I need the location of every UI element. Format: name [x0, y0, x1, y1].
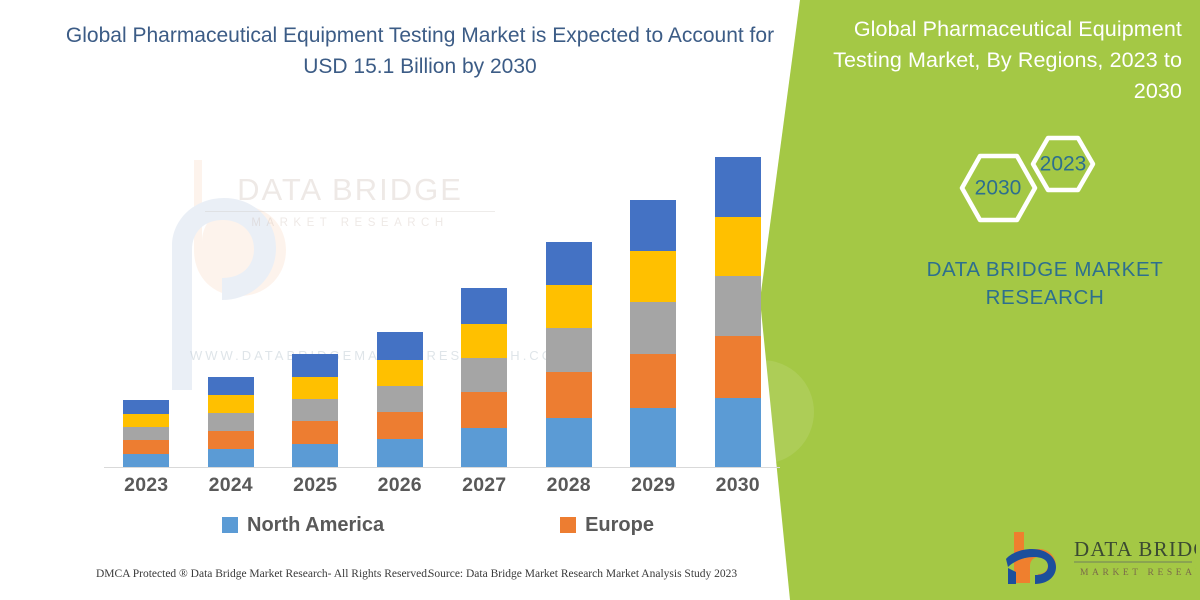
bar-segment[interactable] [630, 200, 676, 251]
bar-segment[interactable] [546, 372, 592, 418]
bar-segment[interactable] [461, 392, 507, 428]
bar-segment[interactable] [546, 285, 592, 328]
panel-brand-line2: RESEARCH [900, 284, 1190, 312]
bar-segment[interactable] [208, 377, 254, 395]
bar-slot [527, 122, 612, 468]
x-axis-tick: 2030 [696, 474, 781, 502]
bar-segment[interactable] [630, 354, 676, 408]
page-title: Global Pharmaceutical Equipment Testing … [60, 20, 780, 82]
bar-slot [104, 122, 189, 468]
bar-segment[interactable] [292, 377, 338, 399]
bar-segment[interactable] [715, 217, 761, 276]
hexagon-2023-shape: 2023 [1033, 138, 1093, 190]
bar-segment[interactable] [123, 440, 169, 454]
infographic-canvas: Global Pharmaceutical Equipment Testing … [0, 0, 1200, 600]
panel-title: Global Pharmaceutical Equipment Testing … [830, 14, 1182, 107]
bar-segment[interactable] [208, 431, 254, 449]
legend-item[interactable]: Europe [560, 514, 654, 537]
bar-segment[interactable] [123, 400, 169, 414]
brand-logo: DATA BRIDGE MARKET RESEARCH [1000, 528, 1196, 586]
bar-segment[interactable] [123, 454, 169, 468]
bar-slot [442, 122, 527, 468]
x-axis-tick: 2029 [611, 474, 696, 502]
bar-segment[interactable] [292, 444, 338, 468]
footer-source: Source: Data Bridge Market Research Mark… [428, 568, 737, 580]
bar-segment[interactable] [377, 386, 423, 412]
bar-segment[interactable] [715, 336, 761, 398]
stacked-bar-chart [104, 120, 780, 468]
bar-segment[interactable] [377, 360, 423, 386]
stacked-bar[interactable] [377, 332, 423, 468]
legend-label: North America [247, 514, 384, 537]
x-axis-tick: 2028 [527, 474, 612, 502]
chart-x-axis: 20232024202520262027202820292030 [104, 474, 780, 502]
stacked-bar[interactable] [715, 157, 761, 468]
bar-slot [358, 122, 443, 468]
x-axis-tick: 2024 [189, 474, 274, 502]
bar-segment[interactable] [377, 439, 423, 468]
chart-legend: North AmericaEurope [104, 508, 780, 542]
legend-label: Europe [585, 514, 654, 537]
bar-segment[interactable] [546, 418, 592, 468]
bar-slot [189, 122, 274, 468]
bar-segment[interactable] [292, 399, 338, 421]
legend-swatch-icon [560, 517, 576, 533]
footer-dmca: DMCA Protected ® Data Bridge Market Rese… [96, 568, 430, 580]
x-axis-tick: 2025 [273, 474, 358, 502]
bar-segment[interactable] [630, 251, 676, 302]
bar-segment[interactable] [546, 242, 592, 285]
bar-segment[interactable] [461, 324, 507, 358]
legend-swatch-icon [222, 517, 238, 533]
x-axis-tick: 2027 [442, 474, 527, 502]
stacked-bar[interactable] [630, 200, 676, 468]
stacked-bar[interactable] [461, 288, 507, 468]
legend-item[interactable]: North America [222, 514, 384, 537]
bar-segment[interactable] [208, 395, 254, 413]
bar-segment[interactable] [377, 332, 423, 360]
logo-mark-icon [1006, 532, 1056, 584]
hexagon-2023-label: 2023 [1040, 153, 1087, 176]
bar-segment[interactable] [208, 449, 254, 468]
bar-segment[interactable] [715, 398, 761, 468]
stacked-bar[interactable] [208, 377, 254, 468]
x-axis-tick: 2026 [358, 474, 443, 502]
bar-slot [696, 122, 781, 468]
stacked-bar[interactable] [292, 354, 338, 468]
bar-segment[interactable] [292, 354, 338, 377]
stacked-bar[interactable] [123, 400, 169, 468]
logo-tagline: MARKET RESEARCH [1080, 568, 1196, 578]
bar-slot [273, 122, 358, 468]
hexagon-group: 2023 2030 [930, 126, 1130, 236]
bar-segment[interactable] [208, 413, 254, 431]
hexagon-2030-label: 2030 [975, 177, 1022, 200]
bar-segment[interactable] [546, 328, 592, 372]
panel-brand-line1: DATA BRIDGE MARKET [900, 256, 1190, 284]
stacked-bar[interactable] [546, 242, 592, 468]
bar-segment[interactable] [377, 412, 423, 439]
chart-baseline [104, 467, 780, 468]
bar-segment[interactable] [292, 421, 338, 444]
bar-segment[interactable] [461, 358, 507, 392]
hexagon-2030-shape: 2030 [962, 156, 1035, 220]
bar-segment[interactable] [715, 157, 761, 217]
bar-segment[interactable] [123, 427, 169, 440]
bar-segment[interactable] [715, 276, 761, 336]
logo-name: DATA BRIDGE [1074, 537, 1196, 561]
panel-brand: DATA BRIDGE MARKET RESEARCH [900, 256, 1190, 312]
bar-segment[interactable] [461, 288, 507, 324]
bar-segment[interactable] [123, 414, 169, 427]
bar-slot [611, 122, 696, 468]
x-axis-tick: 2023 [104, 474, 189, 502]
bar-segment[interactable] [461, 428, 507, 468]
chart-plot-area [104, 122, 780, 468]
bar-segment[interactable] [630, 408, 676, 468]
bar-segment[interactable] [630, 302, 676, 354]
footer: DMCA Protected ® Data Bridge Market Rese… [0, 566, 790, 590]
